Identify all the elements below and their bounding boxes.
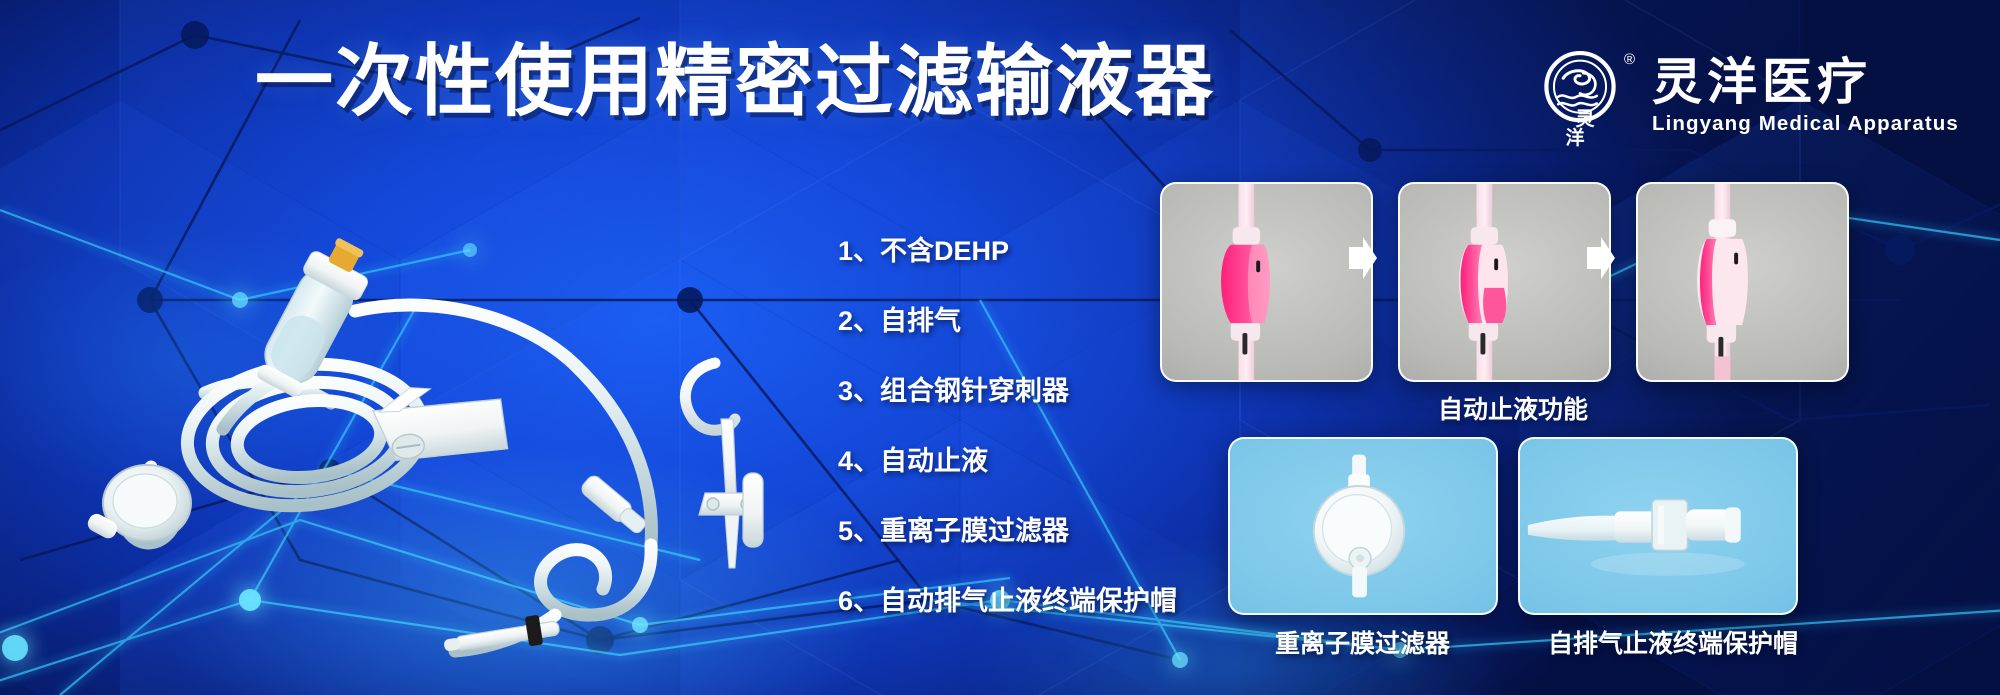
bottom-photo-cap [1518, 437, 1798, 615]
sequence-caption: 自动止液功能 [1438, 398, 1588, 423]
bottom-caption-cap: 自排气止液终端保护帽 [1548, 632, 1798, 657]
feature-item: 5、重离子膜过滤器 [838, 518, 1177, 545]
sequence-photo-3 [1636, 182, 1849, 382]
feature-item: 2、自排气 [838, 308, 1177, 335]
company-name-en: Lingyang Medical Apparatus [1652, 112, 1959, 137]
product-banner: 一次性使用精密过滤输液器 ® 灵 洋 灵洋医疗 Lingyang Medical… [0, 0, 2000, 695]
arrow-right-icon [1583, 235, 1617, 281]
sequence-photo-2 [1398, 182, 1611, 382]
bottom-photo-filter [1228, 437, 1498, 615]
sequence-photo-1 [1160, 182, 1373, 382]
logo-emblem-icon: ® 灵 洋 [1536, 48, 1634, 144]
feature-list: 1、不含DEHP 2、自排气 3、组合钢针穿刺器 4、自动止液 5、重离子膜过滤… [838, 238, 1177, 615]
bottom-caption-filter: 重离子膜过滤器 [1275, 632, 1450, 657]
hero-product-photo [55, 185, 795, 665]
feature-item: 1、不含DEHP [838, 238, 1177, 265]
brand-logo: ® 灵 洋 灵洋医疗 Lingyang Medical Apparatus [1536, 48, 1959, 144]
arrow-right-icon [1345, 235, 1379, 281]
feature-item: 3、组合钢针穿刺器 [838, 378, 1177, 405]
registered-trademark-icon: ® [1624, 52, 1635, 67]
page-title: 一次性使用精密过滤输液器 [255, 42, 1215, 120]
feature-item: 6、自动排气止液终端保护帽 [838, 588, 1177, 615]
logo-mark-label: 灵 洋 [1536, 110, 1634, 148]
company-name-cn: 灵洋医疗 [1652, 56, 1959, 109]
feature-item: 4、自动止液 [838, 448, 1177, 475]
